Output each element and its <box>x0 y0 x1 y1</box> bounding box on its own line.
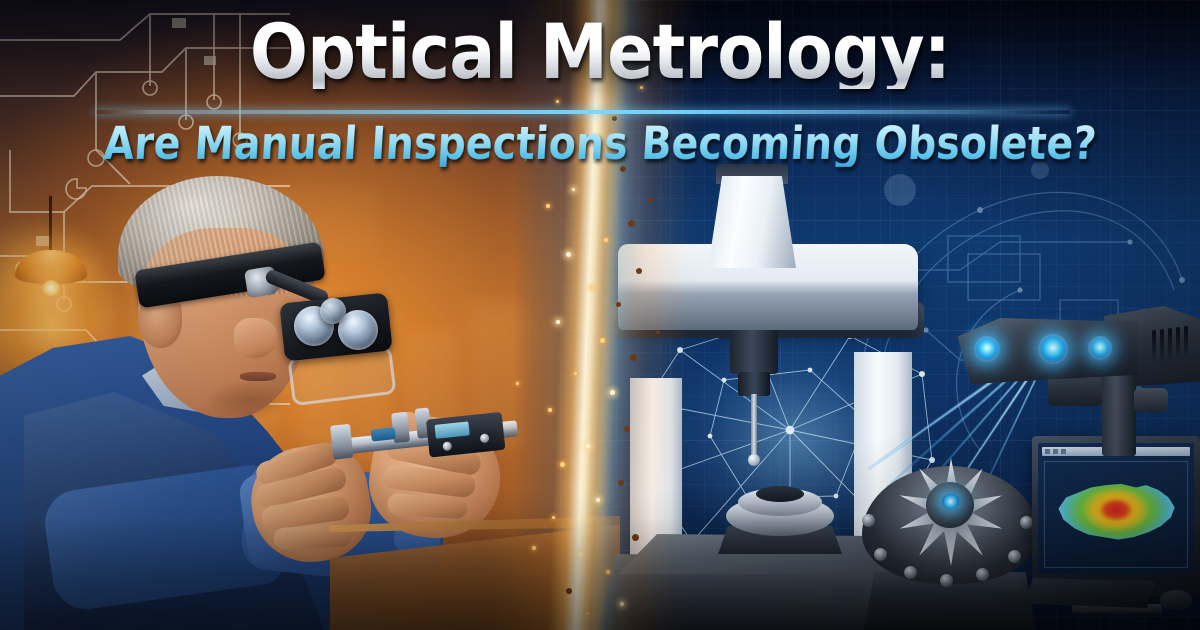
title-divider-rule <box>95 110 1070 114</box>
banner-root: Optical Metrology: Are Manual Inspection… <box>0 0 1200 630</box>
page-title: Optical Metrology: <box>250 16 950 89</box>
subheadline-block: Are Manual Inspections Becoming Obsolete… <box>0 120 1200 167</box>
page-subtitle: Are Manual Inspections Becoming Obsolete… <box>102 120 1098 167</box>
headline-block: Optical Metrology: <box>0 16 1200 89</box>
